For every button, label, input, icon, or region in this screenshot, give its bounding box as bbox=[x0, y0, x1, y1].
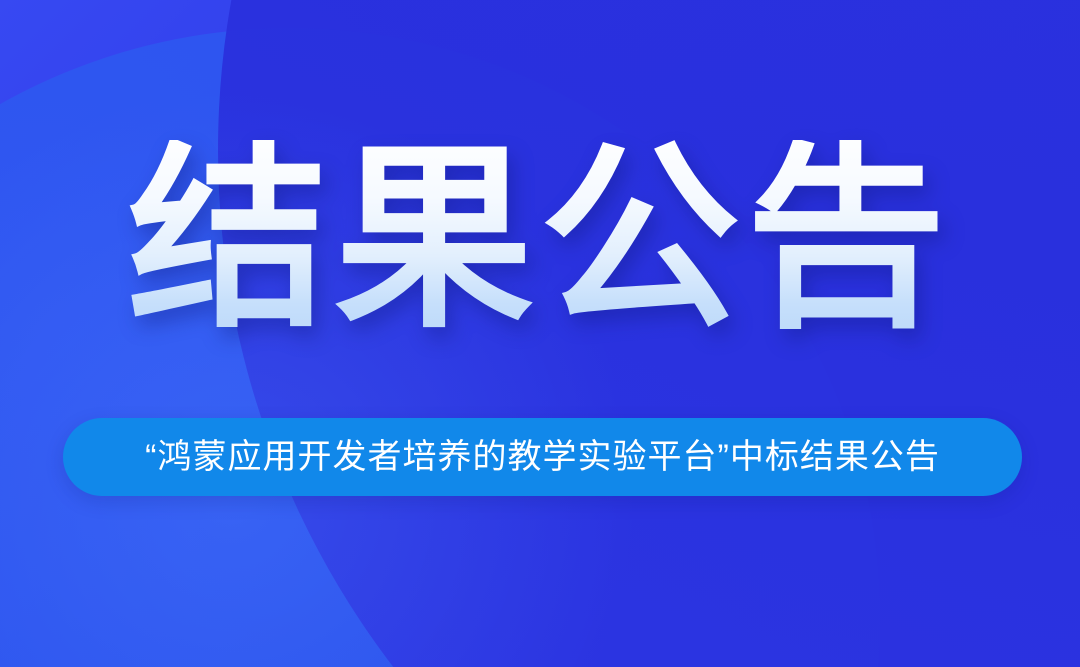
subtitle-pill: “鸿蒙应用开发者培养的教学实验平台”中标结果公告 bbox=[63, 418, 1022, 496]
subtitle-text: “鸿蒙应用开发者培养的教学实验平台”中标结果公告 bbox=[145, 440, 940, 474]
announcement-banner: 结果公告 “鸿蒙应用开发者培养的教学实验平台”中标结果公告 bbox=[0, 0, 1080, 667]
headline-container: 结果公告 bbox=[0, 140, 1080, 340]
page-title: 结果公告 bbox=[124, 140, 956, 340]
